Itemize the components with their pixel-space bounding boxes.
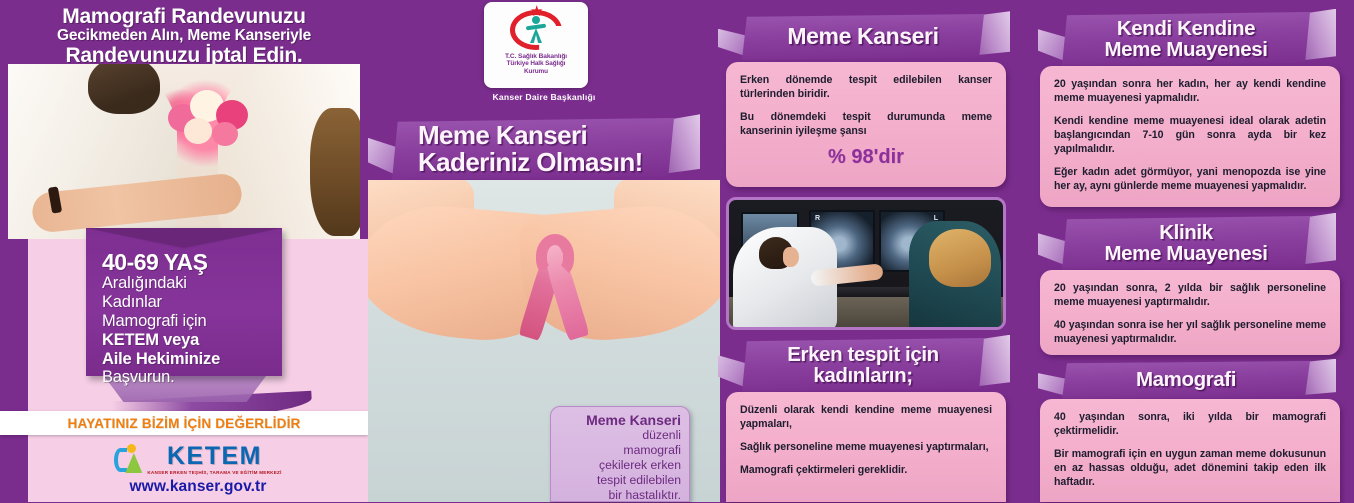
note-line-1: düzenli — [559, 428, 681, 443]
info-paragraph-1: Erken dönemde tespit edilebilen kanser t… — [740, 74, 992, 102]
ketem-wordmark: KETEM KANSER ERKEN TEŞHİS, TARAMA VE EĞİ… — [147, 444, 281, 475]
ministry-line-3: Kurumu — [524, 68, 548, 76]
left-edge-strip — [0, 239, 28, 414]
self-exam-line-1: Kendi Kendine — [1117, 18, 1255, 39]
ketem-body-shape — [125, 453, 142, 473]
petal — [212, 122, 238, 146]
photo-man-head — [88, 64, 160, 114]
detection-item-1: Düzenli olarak kendi kendine meme muayen… — [740, 404, 992, 432]
photo-patient-hair — [929, 229, 991, 287]
photo-bouquet — [160, 86, 258, 158]
self-exam-paragraph-3: Eğer kadın adet görmüyor, yani menopozda… — [1054, 166, 1326, 194]
headline-line-2: Gecikmeden Alın, Meme Kanseriyle — [0, 27, 368, 45]
ministry-emblem-icon: ★ — [506, 6, 566, 52]
note-line-4: tespit edilebilen — [559, 473, 681, 488]
middle-banner-line-2: Kaderiniz Olmasın! — [418, 149, 643, 176]
callout-line-3: Mamografi için — [102, 312, 282, 331]
middle-panel: ★ T.C. Sağlık Bakanlığı Türkiye Halk Sağ… — [368, 0, 720, 502]
banner-label: Mamografi — [1062, 361, 1310, 399]
self-exam-info-box: 20 yaşından sonra her kadın, her ay kend… — [1040, 66, 1340, 207]
doctor-reviewing-mammogram-with-patient-photo: R L — [726, 197, 1006, 330]
ministry-line-1: T.C. Sağlık Bakanlığı — [505, 53, 567, 60]
ministry-department-caption: Kanser Daire Başkanlığı — [368, 92, 720, 102]
callout-line-2: Kadınlar — [102, 293, 282, 312]
slogan-text: HAYATINIZ BİZİM İÇİN DEĞERLİDİR — [68, 416, 301, 431]
ketem-arc-shape — [114, 448, 127, 472]
pink-awareness-ribbon-icon — [519, 236, 591, 348]
headline-line-1: Mamografi Randevunuzu — [0, 6, 368, 27]
middle-note-card: Meme Kanseri düzenli mamografi çekilerek… — [550, 406, 690, 502]
self-exam-paragraph-1: 20 yaşından sonra her kadın, her ay kend… — [1054, 78, 1326, 106]
banner-label: Meme Kanseri — [742, 14, 984, 60]
mammography-info-box: 40 yaşından sonra, iki yılda bir mamogra… — [1040, 399, 1340, 502]
ministry-of-health-logo: ★ T.C. Sağlık Bakanlığı Türkiye Halk Sağ… — [484, 2, 588, 88]
banner-label: Klinik Meme Muayenesi — [1062, 216, 1310, 270]
ministry-line-2: Türkiye Halk Sağlığı — [507, 60, 566, 68]
poster-root: Mamografi Randevunuzu Gecikmeden Alın, M… — [0, 0, 1354, 502]
ketem-name: KETEM — [167, 444, 262, 469]
early-detection-line-2: kadınların; — [813, 365, 912, 386]
ketem-subtitle: KANSER ERKEN TEŞHİS, TARAMA VE EĞİTİM ME… — [147, 470, 281, 475]
ketem-website-url[interactable]: www.kanser.gov.tr — [130, 478, 267, 496]
callout-body: 40-69 YAŞ Aralığındaki Kadınlar Mamograf… — [86, 228, 282, 387]
mammography-paragraph-2: Bir mamografi için en uygun zaman meme d… — [1054, 448, 1326, 490]
clinical-exam-info-box: 20 yaşından sonra, 2 yılda bir sağlık pe… — [1040, 270, 1340, 355]
clinical-exam-paragraph-1: 20 yaşından sonra, 2 yılda bir sağlık pe… — [1054, 282, 1326, 310]
age-callout-box: 40-69 YAŞ Aralığındaki Kadınlar Mamograf… — [86, 228, 282, 376]
figure-legs — [530, 28, 542, 43]
mammography-banner: Mamografi — [1062, 361, 1310, 399]
middle-banner: Meme Kanseri Kaderiniz Olmasın! — [392, 118, 674, 180]
ketem-logo-block: KETEM KANSER ERKEN TEŞHİS, TARAMA VE EĞİ… — [28, 437, 368, 502]
left-panel: Mamografi Randevunuzu Gecikmeden Alın, M… — [0, 0, 368, 502]
early-detection-line-1: Erken tespit için — [787, 344, 939, 365]
banner-label: Erken tespit için kadınların; — [742, 338, 984, 392]
detection-item-2: Sağlık personeline meme muayenesi yaptır… — [740, 441, 992, 455]
photo-woman-hair — [310, 108, 360, 236]
ribbon-loop — [536, 234, 574, 278]
early-detection-banner: Erken tespit için kadınların; — [742, 338, 984, 392]
petal — [184, 118, 212, 144]
clinical-exam-paragraph-2: 40 yaşından sonra ise her yıl sağlık per… — [1054, 319, 1326, 347]
breast-cancer-banner: Meme Kanseri — [742, 14, 984, 60]
ketem-figure-icon — [114, 444, 144, 474]
callout-line-5: Aile Hekiminize — [102, 350, 282, 369]
couple-holding-flowers-photo — [8, 64, 360, 239]
banner-label: Meme Kanseri Kaderiniz Olmasın! — [392, 118, 674, 180]
survival-rate-highlight: % 98'dir — [740, 146, 992, 169]
ketem-head-dot — [127, 444, 136, 453]
self-exam-banner: Kendi Kendine Meme Muayenesi — [1062, 12, 1310, 66]
breast-cancer-info-box: Erken dönemde tespit edilebilen kanser t… — [726, 62, 1006, 187]
figure-head — [532, 16, 540, 24]
left-edge-strip-lower — [0, 432, 28, 502]
clinical-exam-banner: Klinik Meme Muayenesi — [1062, 216, 1310, 270]
banner-label: Kendi Kendine Meme Muayenesi — [1062, 12, 1310, 66]
detection-item-3: Mamografi çektirmeleri gereklidir. — [740, 464, 992, 478]
self-exam-paragraph-2: Kendi kendine meme muayenesi ideal olara… — [1054, 115, 1326, 157]
ketem-logo-row: KETEM KANSER ERKEN TEŞHİS, TARAMA VE EĞİ… — [114, 444, 281, 475]
photo-patient — [909, 221, 1001, 330]
callout-line-1: Aralığındaki — [102, 274, 282, 293]
mammography-paragraph-1: 40 yaşından sonra, iki yılda bir mamogra… — [1054, 411, 1326, 439]
photo-doctor-face — [783, 247, 799, 267]
callout-line-4: KETEM veya — [102, 331, 282, 350]
human-figure-icon — [526, 16, 546, 44]
note-line-3: çekilerek erken — [559, 458, 681, 473]
note-title: Meme Kanseri — [559, 413, 681, 428]
info-paragraph-2: Bu dönemdeki tespit durumunda meme kanse… — [740, 111, 992, 139]
slogan-strip: HAYATINIZ BİZİM İÇİN DEĞERLİDİR — [0, 411, 368, 435]
callout-age-range: 40-69 YAŞ — [102, 250, 282, 274]
left-headline-block: Mamografi Randevunuzu Gecikmeden Alın, M… — [0, 0, 368, 65]
clinical-exam-line-1: Klinik — [1159, 222, 1212, 243]
clinical-exam-line-2: Meme Muayenesi — [1104, 243, 1267, 264]
note-line-5: bir hastalıktır. — [559, 488, 681, 503]
self-exam-line-2: Meme Muayenesi — [1104, 39, 1267, 60]
middle-banner-line-1: Meme Kanseri — [418, 122, 587, 149]
mammogram-mark-right: R — [815, 215, 820, 222]
callout-line-6: Başvurun. — [102, 368, 282, 387]
early-detection-info-box: Düzenli olarak kendi kendine meme muayen… — [726, 392, 1006, 502]
note-line-2: mamografi — [559, 443, 681, 458]
